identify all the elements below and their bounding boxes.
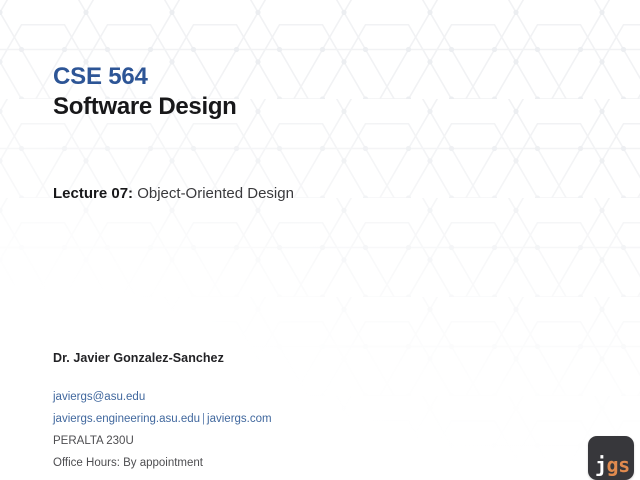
course-code: CSE 564 — [53, 64, 148, 90]
jgs-logo-text: jgs — [595, 455, 630, 475]
lecture-number-label: Lecture 07: — [53, 185, 133, 202]
logo-letter-s: s — [618, 453, 630, 477]
contact-email-item[interactable]: javiergs@asu.edu — [53, 386, 272, 408]
contact-websites-item[interactable]: javiergs.engineering.asu.edu|javiergs.co… — [53, 408, 272, 430]
email-link[interactable]: javiergs@asu.edu — [53, 391, 145, 403]
office-location-item: PERALTA 230U — [53, 430, 272, 452]
lecture-topic-label: Object-Oriented Design — [133, 185, 294, 202]
jgs-logo: jgs — [588, 436, 634, 480]
contact-details-list: javiergs@asu.edu javiergs.engineering.as… — [53, 386, 272, 474]
title-slide: CSE 564 Software Design Lecture 07: Obje… — [0, 0, 640, 480]
lecture-heading: Lecture 07: Object-Oriented Design — [53, 185, 294, 203]
course-title: Software Design — [53, 94, 237, 120]
slide-content: CSE 564 Software Design Lecture 07: Obje… — [53, 0, 613, 480]
logo-letter-j: j — [595, 453, 607, 477]
website-primary-link[interactable]: javiergs.engineering.asu.edu — [53, 413, 200, 425]
presenter-name: Dr. Javier Gonzalez-Sanchez — [53, 351, 224, 365]
office-hours-item: Office Hours: By appointment — [53, 452, 272, 474]
website-separator: | — [200, 413, 207, 425]
website-secondary-link[interactable]: javiergs.com — [207, 413, 272, 425]
logo-letter-g: g — [607, 453, 619, 477]
